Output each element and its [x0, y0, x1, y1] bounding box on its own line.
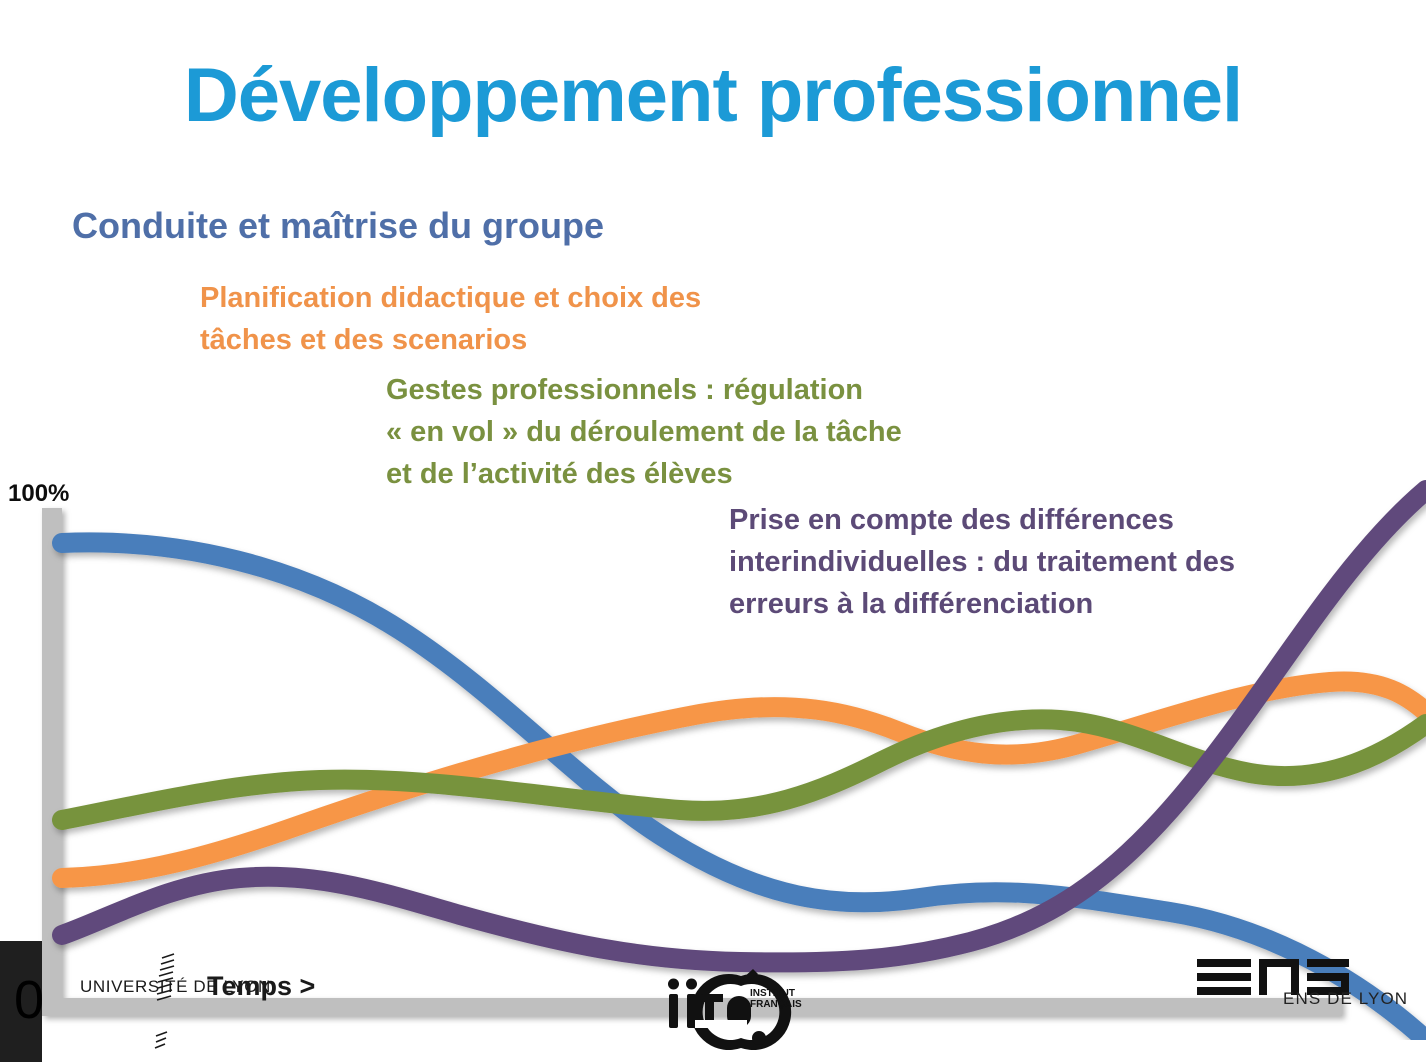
slide-subtitle: Conduite et maîtrise du groupe [72, 205, 604, 247]
chart-axes [42, 508, 1342, 1016]
slide-canvas: Développement professionnel Conduite et … [0, 0, 1426, 1062]
callout-planification-line-2: tâches et des scenarios [200, 319, 701, 361]
logo-ife: ife [655, 964, 835, 1060]
logo-ens-name: ENS DE LYON [1283, 989, 1408, 1009]
lyon-feather-icon [148, 952, 182, 1062]
logo-ens-de-lyon: ENS DE LYON [1197, 957, 1349, 1010]
y-axis-zero-marker: 0 [0, 941, 42, 1062]
callout-planification-line-1: Planification didactique et choix des [200, 277, 701, 319]
logo-ife-caption-line-2: FRANÇAIS [750, 999, 802, 1010]
logo-ife-caption-line-1: INSTITUT [750, 988, 802, 999]
chart-plot-area [0, 480, 1426, 1040]
callout-gestes-line-2: « en vol » du déroulement de la tâche [386, 411, 902, 453]
callout-gestes-line-1: Gestes professionnels : régulation [386, 369, 902, 411]
logo-ife-caption: INSTITUT FRANÇAIS [750, 988, 802, 1010]
page-title: Développement professionnel [0, 52, 1426, 139]
y-axis-zero-label: 0 [14, 973, 44, 1027]
svg-text:ife: ife [655, 964, 672, 968]
callout-planification: Planification didactique et choix des tâ… [200, 277, 701, 361]
callout-gestes: Gestes professionnels : régulation « en … [386, 369, 902, 495]
